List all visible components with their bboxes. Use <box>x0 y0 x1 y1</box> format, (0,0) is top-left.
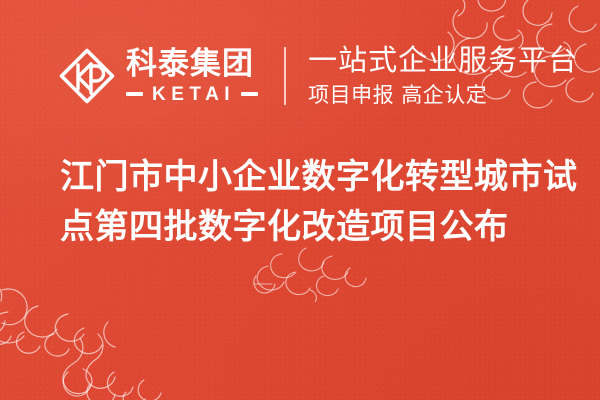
brand-name-en-row: KETAI <box>126 85 258 104</box>
title-line-1: 江门市中小企业数字化转型城市试 <box>60 152 572 202</box>
brand-name-en: KETAI <box>143 85 241 104</box>
ketai-logo-mark-icon <box>58 47 116 105</box>
tagline-main: 一站式企业服务平台 <box>308 44 578 76</box>
dash-left-icon <box>126 92 143 96</box>
tagline-block: 一站式企业服务平台 项目申报 高企认定 <box>308 44 578 109</box>
promo-banner: 科泰集团 KETAI 一站式企业服务平台 项目申报 高企认定 江门市中小企业数字… <box>0 0 600 400</box>
brand-name-cn: 科泰集团 <box>126 48 258 80</box>
dash-right-icon <box>241 92 258 96</box>
brand-lockup: 科泰集团 KETAI <box>124 48 258 103</box>
title-line-2: 点第四批数字化改造项目公布 <box>60 202 572 252</box>
tagline-sub: 项目申报 高企认定 <box>308 83 578 108</box>
banner-header: 科泰集团 KETAI 一站式企业服务平台 项目申报 高企认定 <box>58 40 578 112</box>
header-vertical-divider <box>284 47 286 105</box>
banner-title: 江门市中小企业数字化转型城市试 点第四批数字化改造项目公布 <box>60 152 572 252</box>
